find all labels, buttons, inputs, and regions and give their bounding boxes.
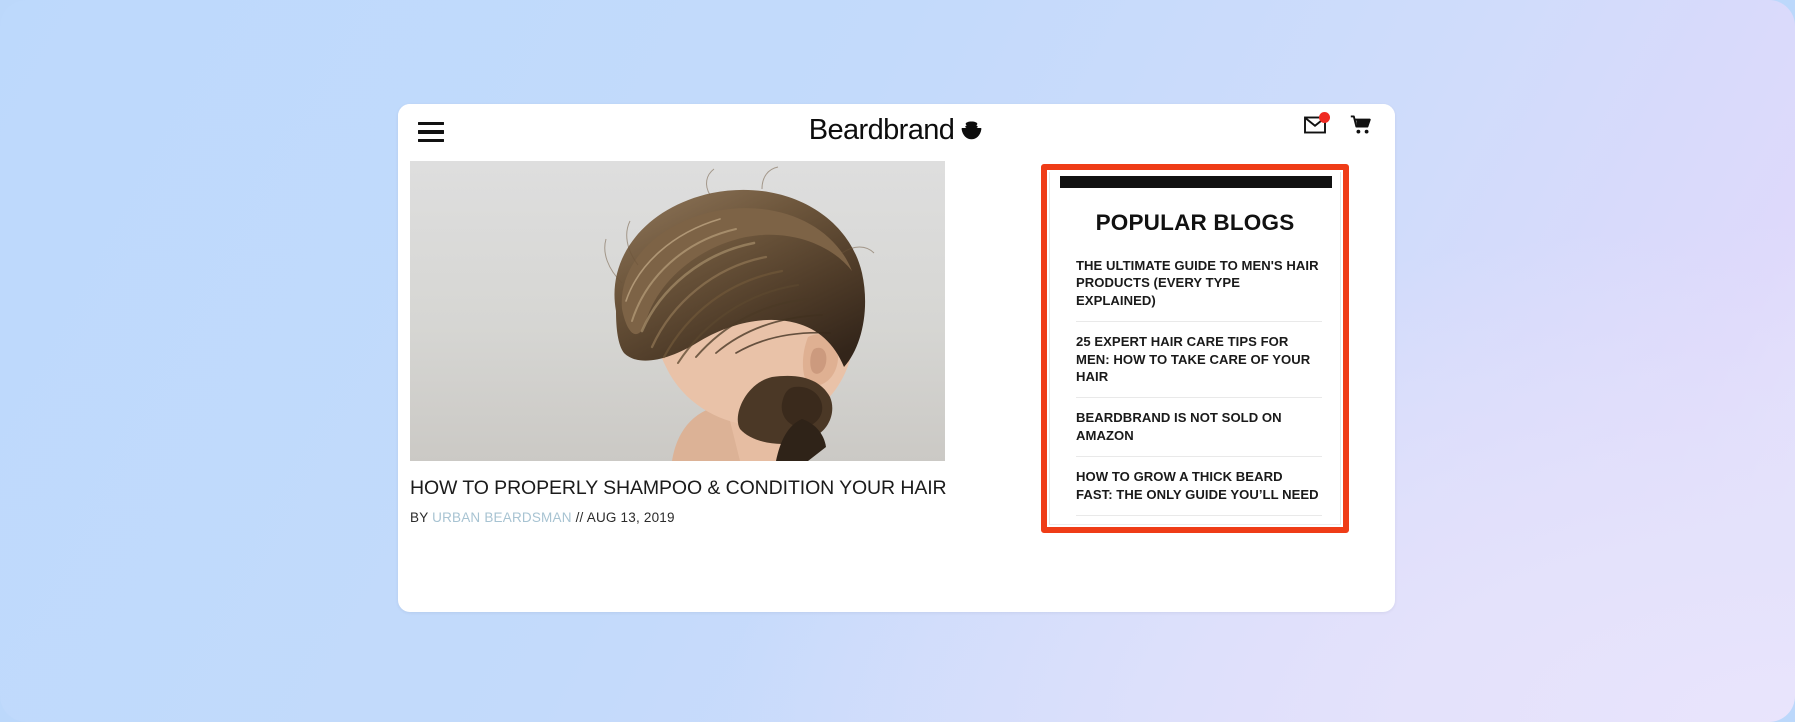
list-item[interactable]: WHAT IS BEARD OIL, AND HOW IS IT APPLIED…	[1076, 516, 1322, 525]
panel-top-accent-bar	[1060, 176, 1332, 188]
byline-separator: //	[576, 510, 584, 525]
brand-logo[interactable]: Beardbrand	[398, 116, 1395, 145]
list-item[interactable]: BEARDBRAND IS NOT SOLD ON AMAZON	[1076, 398, 1322, 457]
article-title[interactable]: HOW TO PROPERLY SHAMPOO & CONDITION YOUR…	[410, 477, 957, 500]
list-item[interactable]: 25 EXPERT HAIR CARE TIPS FOR MEN: HOW TO…	[1076, 322, 1322, 398]
hamburger-menu-icon[interactable]	[414, 116, 448, 148]
hamburger-bar	[418, 130, 444, 133]
article-byline: BY URBAN BEARDSMAN // AUG 13, 2019	[410, 510, 957, 525]
article-hero-image[interactable]	[410, 161, 945, 461]
list-item[interactable]: THE ULTIMATE GUIDE TO MEN'S HAIR PRODUCT…	[1076, 246, 1322, 322]
popular-blogs-panel: POPULAR BLOGS THE ULTIMATE GUIDE TO MEN'…	[1049, 172, 1341, 525]
byline-date: AUG 13, 2019	[587, 510, 675, 525]
popular-blogs-heading: POPULAR BLOGS	[1050, 210, 1340, 236]
hamburger-bar	[418, 139, 444, 142]
list-item[interactable]: HOW TO GROW A THICK BEARD FAST: THE ONLY…	[1076, 457, 1322, 516]
brand-wordmark: Beardbrand	[809, 116, 955, 145]
shopping-cart-icon[interactable]	[1350, 115, 1373, 135]
article-column: HOW TO PROPERLY SHAMPOO & CONDITION YOUR…	[410, 161, 957, 525]
byline-prefix: BY	[410, 510, 428, 525]
header-actions	[1304, 115, 1373, 135]
popular-blogs-list: THE ULTIMATE GUIDE TO MEN'S HAIR PRODUCT…	[1050, 246, 1340, 525]
cart-glyph	[1350, 115, 1373, 135]
byline-author-link[interactable]: URBAN BEARDSMAN	[432, 510, 572, 525]
hero-photo-illustration	[410, 161, 945, 461]
envelope-icon[interactable]	[1304, 116, 1326, 134]
hamburger-bar	[418, 122, 444, 125]
mail-unread-badge	[1319, 112, 1330, 123]
site-header: Beardbrand	[398, 104, 1395, 161]
bearded-face-icon	[959, 120, 984, 145]
